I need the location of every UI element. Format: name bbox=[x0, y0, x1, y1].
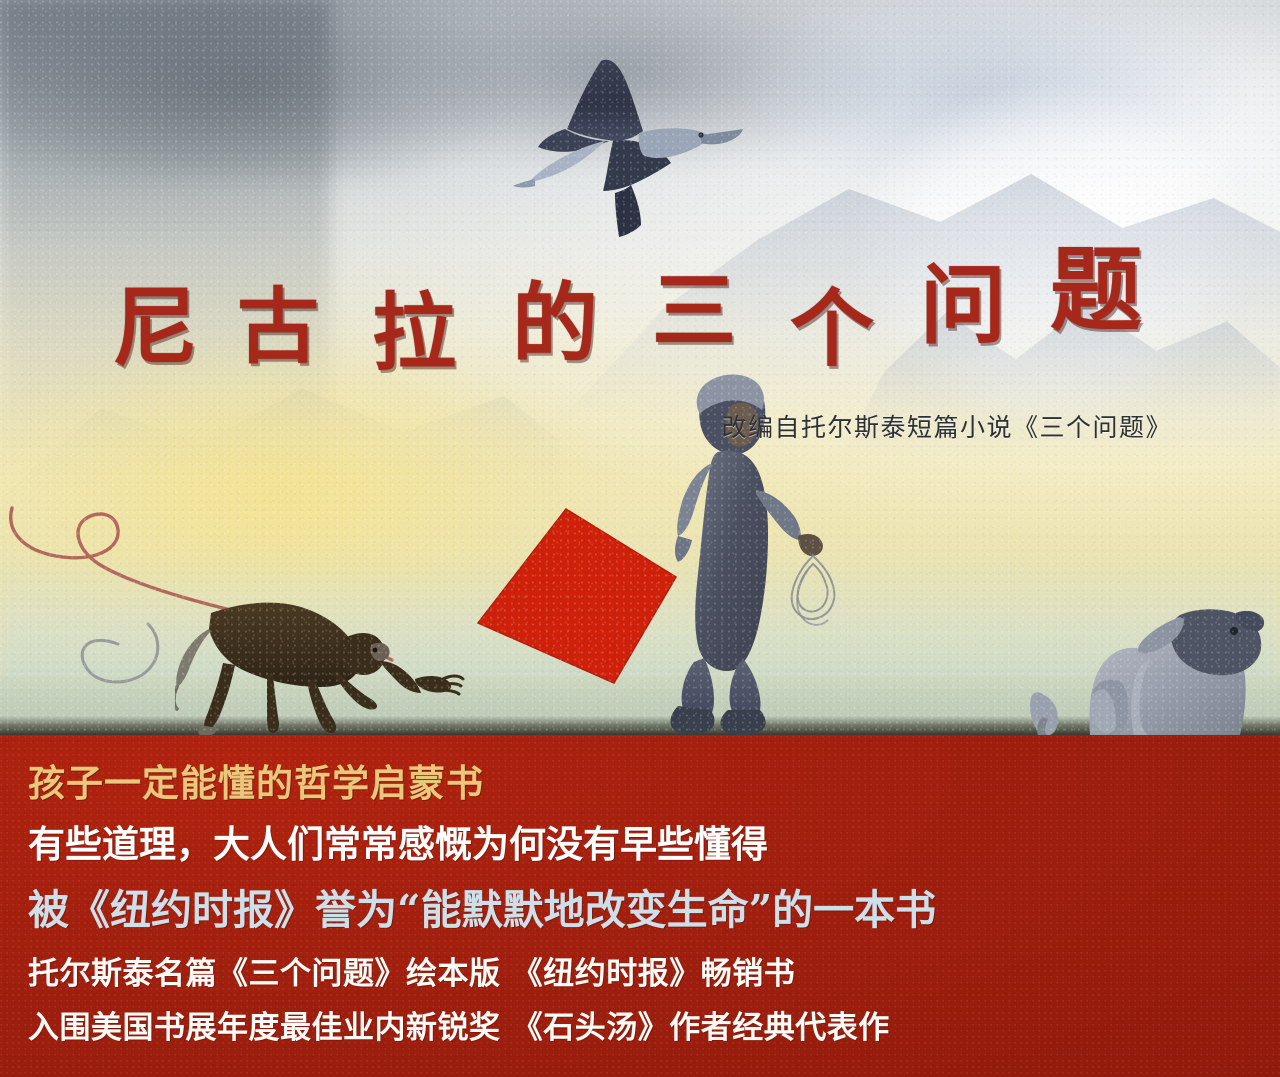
subtitle: 改编自托尔斯泰短篇小说《三个问题》 bbox=[721, 408, 1172, 444]
promo-line-1: 孩子一定能懂的哲学启蒙书 bbox=[28, 753, 1188, 807]
promo-band: 孩子一定能懂的哲学启蒙书 有些道理，大人们常常感慨为何没有早些懂得 被《纽约时报… bbox=[0, 735, 1280, 1077]
book-cover: 尼 古 拉 的 三 个 问 题 改编自托尔斯泰短篇小说《三个问题》 孩子一定能懂… bbox=[0, 0, 1280, 1077]
dog-icon bbox=[1030, 585, 1280, 735]
promo-text-block: 孩子一定能懂的哲学启蒙书 有些道理，大人们常常感慨为何没有早些懂得 被《纽约时报… bbox=[28, 753, 1188, 1056]
promo-line-5: 入围美国书展年度最佳业内新锐奖 《石头汤》作者经典代表作 bbox=[28, 1002, 1188, 1047]
heron-icon bbox=[505, 55, 755, 245]
promo-line-2: 有些道理，大人们常常感慨为何没有早些懂得 bbox=[28, 814, 1188, 868]
promo-line-3: 被《纽约时报》誉为“能默默地改变生命”的一本书 bbox=[28, 876, 1188, 936]
promo-line-4: 托尔斯泰名篇《三个问题》绘本版 《纽约时报》畅销书 bbox=[28, 948, 1188, 993]
monkey-icon bbox=[175, 595, 465, 735]
cover-illustration bbox=[0, 0, 1280, 735]
